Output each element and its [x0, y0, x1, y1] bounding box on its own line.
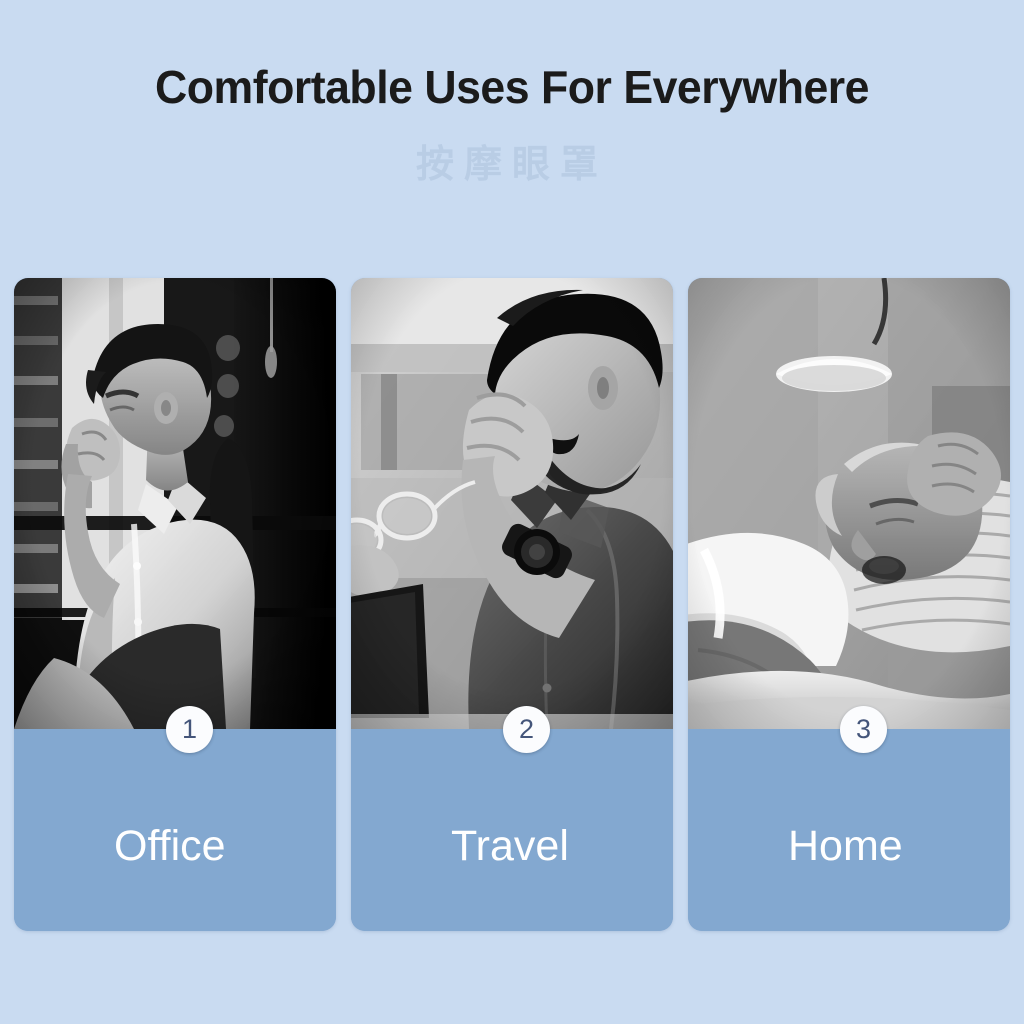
- photo-home: [688, 278, 1010, 729]
- step-badge-1: 1: [166, 706, 213, 753]
- page-title: Comfortable Uses For Everywhere: [15, 63, 1008, 111]
- use-case-card-office[interactable]: Office 1: [14, 278, 336, 931]
- page-header: Comfortable Uses For Everywhere: [0, 63, 1024, 111]
- photo-travel: [351, 278, 673, 729]
- step-badge-3: 3: [840, 706, 887, 753]
- use-case-card-travel[interactable]: Travel 2: [351, 278, 673, 931]
- use-case-card-row: Office 1: [14, 278, 1010, 931]
- photo-office: [14, 278, 336, 729]
- card-label-office: Office: [114, 825, 226, 868]
- caption-band-travel: Travel: [351, 729, 673, 931]
- card-label-home: Home: [788, 825, 903, 868]
- caption-band-office: Office: [14, 729, 336, 931]
- background-watermark: 按摩眼罩: [0, 133, 1024, 188]
- caption-band-home: Home: [688, 729, 1010, 931]
- use-case-card-home[interactable]: Home 3: [688, 278, 1010, 931]
- step-number-1: 1: [182, 716, 197, 743]
- step-number-2: 2: [519, 716, 534, 743]
- step-number-3: 3: [856, 716, 871, 743]
- step-badge-2: 2: [503, 706, 550, 753]
- card-label-travel: Travel: [451, 825, 569, 868]
